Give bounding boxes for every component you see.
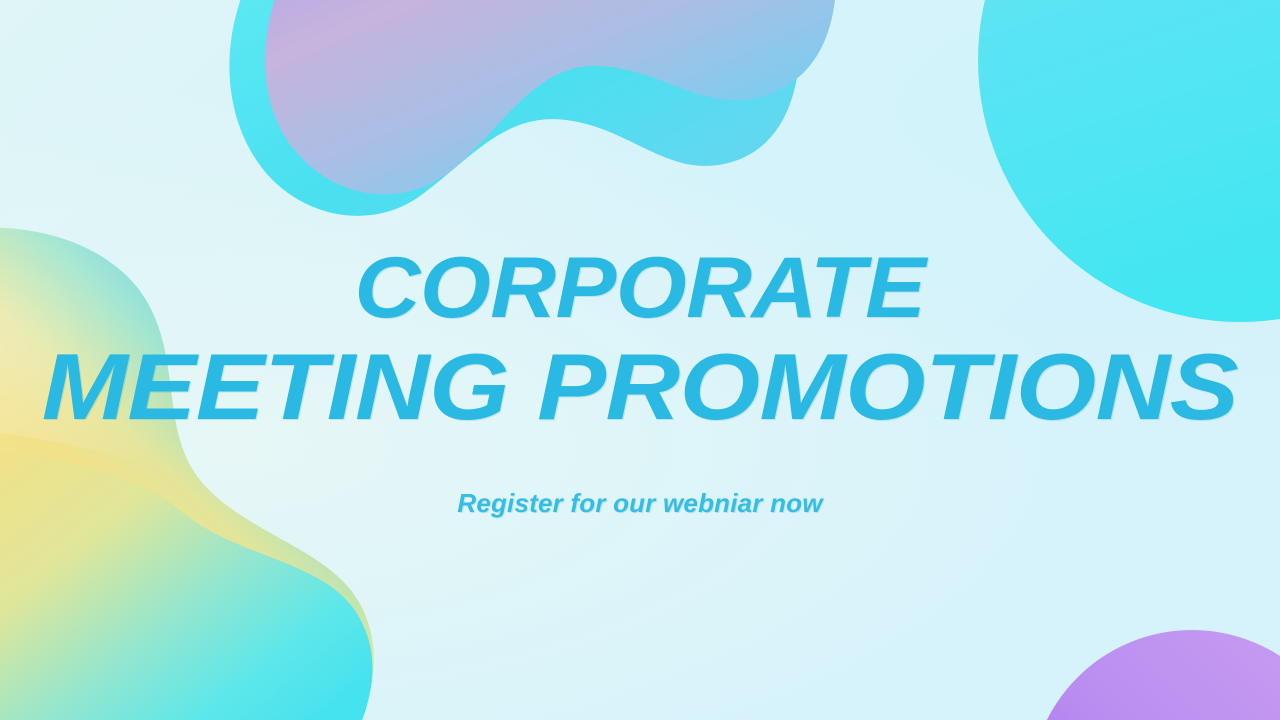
headline-line-2: MEETING PROMOTIONS (0, 342, 1280, 432)
headline-block: CORPORATE MEETING PROMOTIONS (0, 247, 1280, 432)
poster-content: CORPORATE MEETING PROMOTIONS Register fo… (0, 0, 1280, 720)
subtitle-text: Register for our webniar now (0, 488, 1280, 519)
headline-line-1: CORPORATE (0, 247, 1280, 330)
poster-canvas: CORPORATE MEETING PROMOTIONS Register fo… (0, 0, 1280, 720)
